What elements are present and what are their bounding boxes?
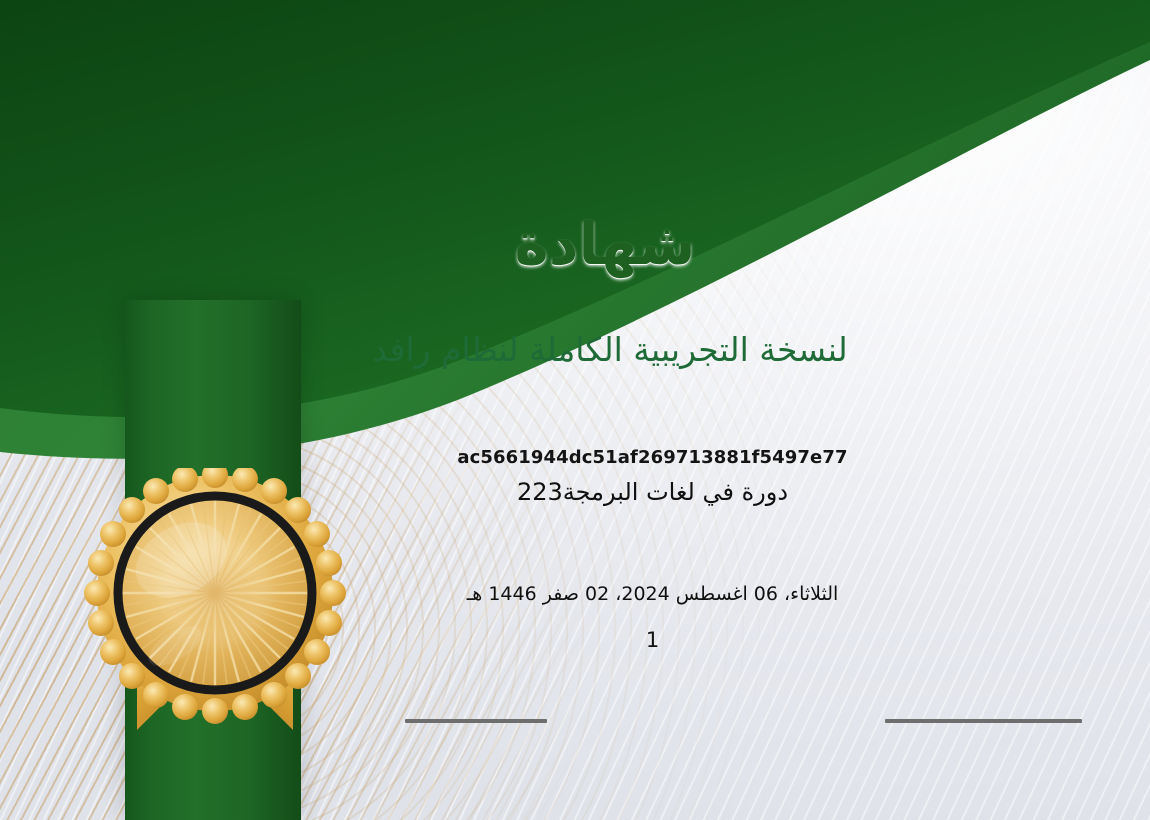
gold-medal-rosette <box>75 468 355 758</box>
certificate-subtitle: لنسخة التجريبية الكاملة لنظام رافد <box>0 329 1150 370</box>
certificate-page-number: 1 <box>0 628 1150 652</box>
certificate-title: شهادة <box>0 214 1150 275</box>
certificate-page: شهادة لنسخة التجريبية الكاملة لنظام رافد… <box>0 0 1150 820</box>
certificate-course-name: دورة في لغات البرمجة223 <box>0 478 1150 506</box>
signature-line-right <box>885 719 1082 723</box>
signature-line-left <box>405 719 547 723</box>
certificate-date: الثلاثاء، 06 اغسطس 2024، 02 صفر 1446 هـ <box>0 583 1150 605</box>
certificate-hash: ac5661944dc51af269713881f5497e77 <box>0 447 1150 468</box>
